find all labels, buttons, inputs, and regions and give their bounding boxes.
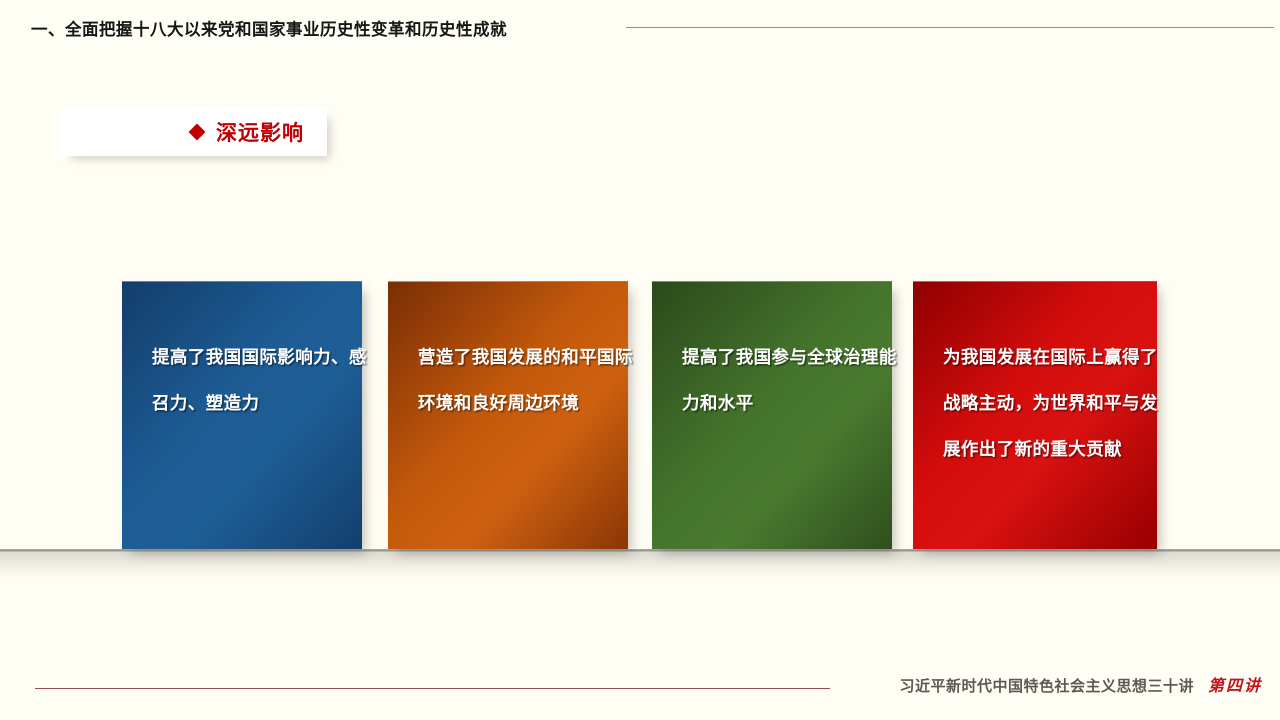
footer-lecture-number: 第四讲	[1208, 672, 1262, 696]
content-card-2-text: 营造了我国发展的和平国际环境和良好周边环境	[418, 334, 633, 426]
content-card-1-text: 提高了我国国际影响力、感召力、塑造力	[152, 334, 367, 426]
content-card-3-text: 提高了我国参与全球治理能力和水平	[682, 334, 897, 426]
card-group: 提高了我国国际影响力、感召力、塑造力 营造了我国发展的和平国际环境和良好周边环境…	[0, 0, 1280, 720]
footer-series-title: 习近平新时代中国特色社会主义思想三十讲	[899, 675, 1194, 696]
content-card-2[interactable]: 营造了我国发展的和平国际环境和良好周边环境	[388, 281, 628, 549]
footer-divider-line	[35, 688, 830, 689]
slide-canvas: 一、全面把握十八大以来党和国家事业历史性变革和历史性成就 深远影响 提高了我国国…	[0, 0, 1280, 720]
content-card-3[interactable]: 提高了我国参与全球治理能力和水平	[652, 281, 892, 549]
content-card-1[interactable]: 提高了我国国际影响力、感召力、塑造力	[122, 281, 362, 549]
content-card-4-text: 为我国发展在国际上赢得了战略主动，为世界和平与发展作出了新的重大贡献	[943, 334, 1171, 472]
content-card-4[interactable]: 为我国发展在国际上赢得了战略主动，为世界和平与发展作出了新的重大贡献	[913, 281, 1157, 549]
slide-footer: 习近平新时代中国特色社会主义思想三十讲 第四讲	[899, 672, 1262, 696]
